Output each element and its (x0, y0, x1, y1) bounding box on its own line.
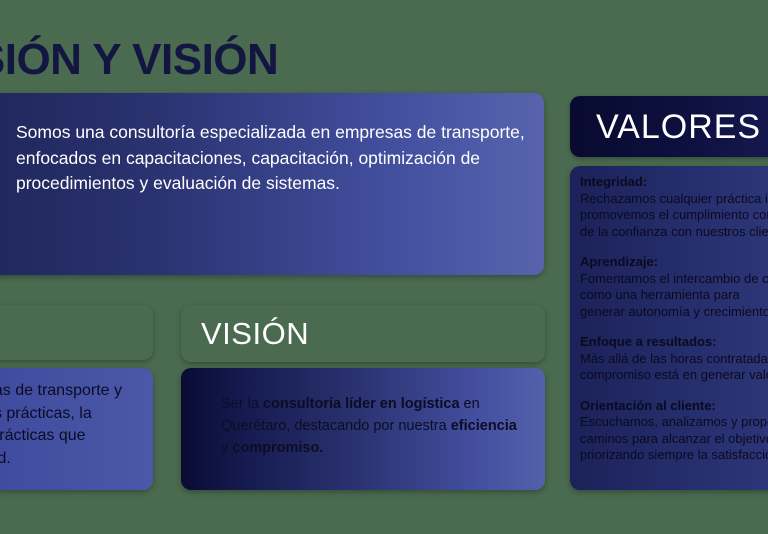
vision-text: y (221, 440, 232, 456)
valores-item-line: de la confianza con nuestros clientes. (580, 224, 768, 241)
vision-card-header: VISIÓN (181, 305, 545, 362)
vision-emphasis: consultoría líder en logística (263, 396, 460, 412)
valores-item: Orientación al cliente:Escuchamos, anali… (580, 398, 768, 464)
valores-item-line: Fomentamos el intercambio de conocimient… (580, 271, 768, 288)
slide-canvas: MISIÓN Y VISIÓN Somos una consultoría es… (0, 0, 768, 534)
valores-card-header: VALORES (570, 96, 768, 157)
valores-item-line: compromiso está en generar valor real. (580, 367, 768, 384)
valores-item-term: Enfoque a resultados: (580, 334, 768, 351)
valores-card-body: Integridad:Rechazamos cualquier práctica… (570, 166, 768, 490)
left-card-body: Impulsar la productividad de empresas de… (0, 368, 153, 490)
mision-card: Somos una consultoría especializada en e… (0, 93, 544, 275)
vision-card-body: Ser la consultoría líder en logística en… (181, 368, 545, 490)
vision-card-title: VISIÓN (201, 318, 309, 349)
valores-item-line: como una herramienta para (580, 287, 768, 304)
valores-item: Integridad:Rechazamos cualquier práctica… (580, 174, 768, 240)
vision-emphasis: compromiso. (232, 440, 323, 456)
vision-text: Ser la (221, 396, 263, 412)
valores-item-term: Integridad: (580, 174, 768, 191)
left-card-body-text: Impulsar la productividad de empresas de… (0, 380, 136, 471)
mision-card-body-text: Somos una consultoría especializada en e… (16, 120, 532, 197)
left-card-header (0, 305, 153, 360)
valores-item-line: Más allá de las horas contratadas, nuest… (580, 351, 768, 368)
vision-card-body-text: Ser la consultoría líder en logística en… (221, 394, 521, 459)
valores-card-title: VALORES (596, 110, 761, 144)
valores-item-line: generar autonomía y crecimiento. (580, 304, 768, 321)
valores-item-term: Aprendizaje: (580, 254, 768, 271)
valores-item: Enfoque a resultados:Más allá de las hor… (580, 334, 768, 384)
valores-item-line: promovemos el cumplimiento como base (580, 207, 768, 224)
valores-item-line: Rechazamos cualquier práctica indebida y (580, 191, 768, 208)
valores-item-term: Orientación al cliente: (580, 398, 768, 415)
vision-emphasis: eficiencia (451, 418, 517, 434)
valores-item-line: Escuchamos, analizamos y proponemos (580, 414, 768, 431)
valores-list: Integridad:Rechazamos cualquier práctica… (580, 174, 768, 464)
valores-item: Aprendizaje:Fomentamos el intercambio de… (580, 254, 768, 320)
page-title: MISIÓN Y VISIÓN (0, 38, 278, 82)
valores-item-line: priorizando siempre la satisfacción. (580, 447, 768, 464)
valores-item-line: caminos para alcanzar el objetivo, (580, 431, 768, 448)
